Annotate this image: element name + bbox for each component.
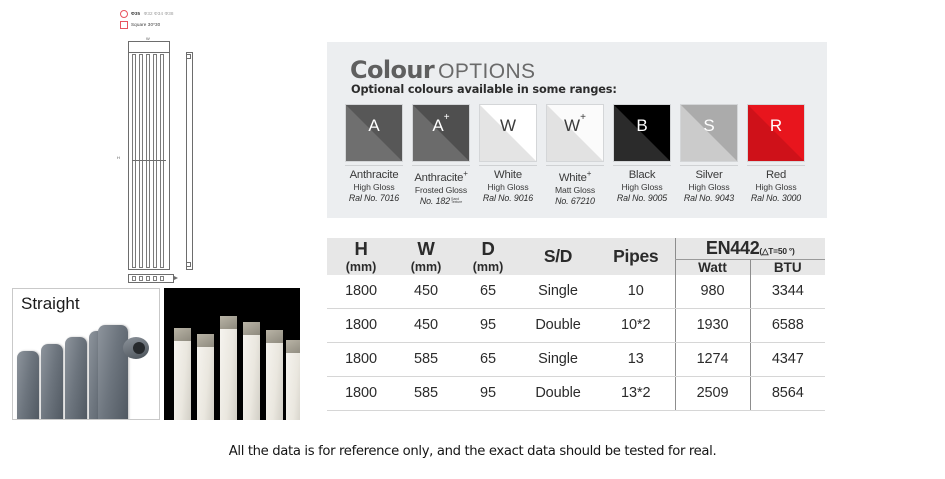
swatch-letter: A [346, 116, 402, 136]
list-item: Φ35 Φ32 Φ34 Φ38 [120, 8, 210, 19]
radiator-fin-photo [243, 328, 260, 420]
divider [546, 165, 604, 166]
table-cell-sd: Single [519, 275, 597, 309]
radiator-fin-cap [286, 340, 300, 353]
column-header-depth-main: D [457, 240, 519, 259]
table-cell-w: 585 [395, 377, 457, 411]
swatch-ral-label: Ral No. 3000 [747, 193, 805, 203]
column-header-en442-condition: (△T=50 °) [759, 246, 794, 256]
side-view-port-bottom [186, 262, 191, 267]
table-cell-btu: 6588 [750, 309, 825, 343]
colour-swatch-red[interactable]: RRedHigh GlossRal No. 3000 [747, 104, 805, 206]
table-cell-d: 65 [457, 275, 519, 309]
drawing-height-label: H [117, 155, 120, 160]
table-header-row: H (mm) W (mm) D (mm) S/D Pipes EN442(△T=… [327, 238, 825, 260]
radiator-fin-cap [174, 328, 191, 341]
column-header-sd: S/D [519, 238, 597, 275]
swatch-name-label: Silver [680, 169, 738, 181]
column-header-en442-group: EN442(△T=50 °) [675, 238, 825, 260]
width-dimension-bracket [128, 41, 170, 52]
swatch-colour-chip[interactable]: A [345, 104, 403, 162]
radiator-valve-bore [133, 342, 145, 354]
table-cell-pipes: 10*2 [597, 309, 675, 343]
colour-swatch-silver[interactable]: SSilverHigh GlossRal No. 9043 [680, 104, 738, 206]
table-cell-pipes: 13*2 [597, 377, 675, 411]
table-cell-sd: Double [519, 309, 597, 343]
table-cell-w: 450 [395, 309, 457, 343]
swatch-colour-chip[interactable]: R [747, 104, 805, 162]
dimension-legend: Φ35 Φ32 Φ34 Φ38 Square 30*30 [120, 8, 210, 30]
top-view-cell [146, 276, 150, 281]
column-header-depth-unit: (mm) [457, 261, 519, 274]
divider [412, 165, 470, 166]
divider [680, 165, 738, 166]
swatch-letter: W+ [547, 116, 603, 136]
swatch-ral-label: Ral No. 7016 [345, 193, 403, 203]
list-item: Square 30*30 [120, 19, 210, 30]
radiator-fin-photo [286, 346, 300, 420]
side-view-outline [186, 52, 193, 270]
swatch-ral-label: Ral No. 9005 [613, 193, 671, 203]
legend-primary-circle: Φ35 [131, 11, 140, 16]
swatch-finish-label: High Gloss [747, 182, 805, 192]
radiator-fin-photo [98, 325, 128, 420]
product-photo-straight: Straight [12, 288, 160, 420]
title-strong: Colour [350, 56, 434, 84]
swatch-name-label: White [479, 169, 537, 181]
table-row: 180045095Double10*219306588 [327, 309, 825, 343]
product-photo-white [164, 288, 300, 420]
swatch-finish-label: High Gloss [613, 182, 671, 192]
page-title: ColourOPTIONS [350, 56, 535, 84]
swatch-ral-label: Ral No. 9016 [479, 193, 537, 203]
swatch-finish-label: Matt Gloss [546, 185, 604, 195]
top-view-cell [153, 276, 157, 281]
table-cell-btu: 8564 [750, 377, 825, 411]
swatch-colour-chip[interactable]: S [680, 104, 738, 162]
table-cell-watt: 980 [675, 275, 750, 309]
table-cell-d: 65 [457, 343, 519, 377]
table-row: 180058565Single1312744347 [327, 343, 825, 377]
radiator-fin-photo [17, 351, 39, 420]
swatch-colour-chip[interactable]: W+ [546, 104, 604, 162]
table-cell-watt: 2509 [675, 377, 750, 411]
centerline-horizontal [132, 160, 166, 161]
colour-swatch-white-plus[interactable]: W+White+Matt GlossNo. 67210 [546, 104, 604, 206]
colour-swatch-anthracite[interactable]: AAnthraciteHigh GlossRal No. 7016 [345, 104, 403, 206]
column-header-watt: Watt [675, 260, 750, 276]
column-header-width-main: W [395, 240, 457, 259]
column-header-en442-label: EN442 [706, 238, 760, 258]
radiator-fin-cap [243, 322, 260, 335]
colour-swatch-list: AAnthraciteHigh GlossRal No. 7016A+Anthr… [345, 104, 805, 206]
swatch-finish-label: High Gloss [345, 182, 403, 192]
radiator-fin-photo [41, 344, 63, 420]
swatch-ral-note: SandTexture [451, 198, 462, 206]
radiator-fin-cap [197, 334, 214, 347]
vertical-radiator-technical-drawing: W H [110, 36, 225, 284]
footer-disclaimer: All the data is for reference only, and … [0, 444, 945, 459]
table-body: 180045065Single109803344180045095Double1… [327, 275, 825, 411]
swatch-finish-label: Frosted Gloss [412, 185, 470, 195]
column-header-pipes: Pipes [597, 238, 675, 275]
table-cell-w: 450 [395, 275, 457, 309]
legend-alternates-circle: Φ32 Φ34 Φ38 [144, 11, 174, 16]
square-icon [120, 21, 128, 29]
side-view-port-top [186, 54, 191, 59]
swatch-name-label: Red [747, 169, 805, 181]
column-header-depth: D (mm) [457, 238, 519, 275]
table-cell-pipes: 10 [597, 275, 675, 309]
radiator-fin [153, 54, 157, 268]
table-cell-btu: 4347 [750, 343, 825, 377]
radiator-fin-photo [197, 340, 214, 420]
table-row: 180045065Single109803344 [327, 275, 825, 309]
column-header-height-unit: (mm) [327, 261, 395, 274]
table-cell-pipes: 13 [597, 343, 675, 377]
table-cell-h: 1800 [327, 343, 395, 377]
table-cell-watt: 1930 [675, 309, 750, 343]
colour-swatch-white[interactable]: WWhiteHigh GlossRal No. 9016 [479, 104, 537, 206]
swatch-finish-label: High Gloss [680, 182, 738, 192]
colour-options-panel: ColourOPTIONS Optional colours available… [327, 42, 827, 218]
swatch-colour-chip[interactable]: B [613, 104, 671, 162]
table-cell-w: 585 [395, 343, 457, 377]
circle-icon [120, 10, 128, 18]
radiator-fin-photo [266, 336, 283, 420]
colour-options-subtitle: Optional colours available in some range… [351, 83, 617, 96]
column-header-height-main: H [327, 240, 395, 259]
top-view-cell [139, 276, 143, 281]
swatch-ral-label: No. 67210 [546, 196, 604, 206]
radiator-fin-photo [174, 334, 191, 420]
swatch-letter: S [681, 116, 737, 136]
specification-table-container: H (mm) W (mm) D (mm) S/D Pipes EN442(△T=… [327, 238, 825, 411]
table-cell-d: 95 [457, 377, 519, 411]
title-light: OPTIONS [438, 60, 535, 83]
column-header-width-unit: (mm) [395, 261, 457, 274]
swatch-name-label: Anthracite+ [412, 169, 470, 184]
legend-label-square: Square 30*30 [131, 22, 160, 27]
swatch-name-label: Black [613, 169, 671, 181]
column-header-height: H (mm) [327, 238, 395, 275]
swatch-ral-label: Ral No. 9043 [680, 193, 738, 203]
table-row: 180058595Double13*225098564 [327, 377, 825, 411]
table-cell-sd: Double [519, 377, 597, 411]
divider [747, 165, 805, 166]
drawing-width-label: W [146, 36, 150, 41]
swatch-letter: W [480, 116, 536, 136]
radiator-fin [139, 54, 143, 268]
top-view-cell [160, 276, 164, 281]
specification-table: H (mm) W (mm) D (mm) S/D Pipes EN442(△T=… [327, 238, 825, 411]
swatch-colour-chip[interactable]: W [479, 104, 537, 162]
swatch-ral-label: No. 182SandTexture [412, 196, 470, 206]
divider [613, 165, 671, 166]
legend-label-circle: Φ35 Φ32 Φ34 Φ38 [131, 11, 174, 16]
radiator-fin [160, 54, 164, 268]
top-view-cell [132, 276, 136, 281]
photo-caption-straight: Straight [21, 294, 80, 314]
table-cell-d: 95 [457, 309, 519, 343]
table-cell-watt: 1274 [675, 343, 750, 377]
column-header-btu: BTU [750, 260, 825, 276]
divider [479, 165, 537, 166]
table-cell-sd: Single [519, 343, 597, 377]
radiator-fin [132, 54, 136, 268]
radiator-fin-photo [220, 322, 237, 420]
table-cell-h: 1800 [327, 377, 395, 411]
divider [345, 165, 403, 166]
table-head: H (mm) W (mm) D (mm) S/D Pipes EN442(△T=… [327, 238, 825, 275]
column-header-width: W (mm) [395, 238, 457, 275]
swatch-letter: A+ [413, 116, 469, 136]
swatch-colour-chip[interactable]: A+ [412, 104, 470, 162]
table-cell-h: 1800 [327, 309, 395, 343]
swatch-name-label: Anthracite [345, 169, 403, 181]
radiator-fin [146, 54, 150, 268]
swatch-letter: B [614, 116, 670, 136]
colour-swatch-anthracite-plus[interactable]: A+Anthracite+Frosted GlossNo. 182SandTex… [412, 104, 470, 206]
radiator-fin-cap [266, 330, 283, 343]
swatch-finish-label: High Gloss [479, 182, 537, 192]
top-view-nozzle-icon [174, 276, 178, 280]
radiator-fin-photo [65, 337, 87, 420]
swatch-letter: R [748, 116, 804, 136]
radiator-fin-cap [220, 316, 237, 329]
colour-swatch-black[interactable]: BBlackHigh GlossRal No. 9005 [613, 104, 671, 206]
swatch-name-label: White+ [546, 169, 604, 184]
table-cell-btu: 3344 [750, 275, 825, 309]
table-cell-h: 1800 [327, 275, 395, 309]
